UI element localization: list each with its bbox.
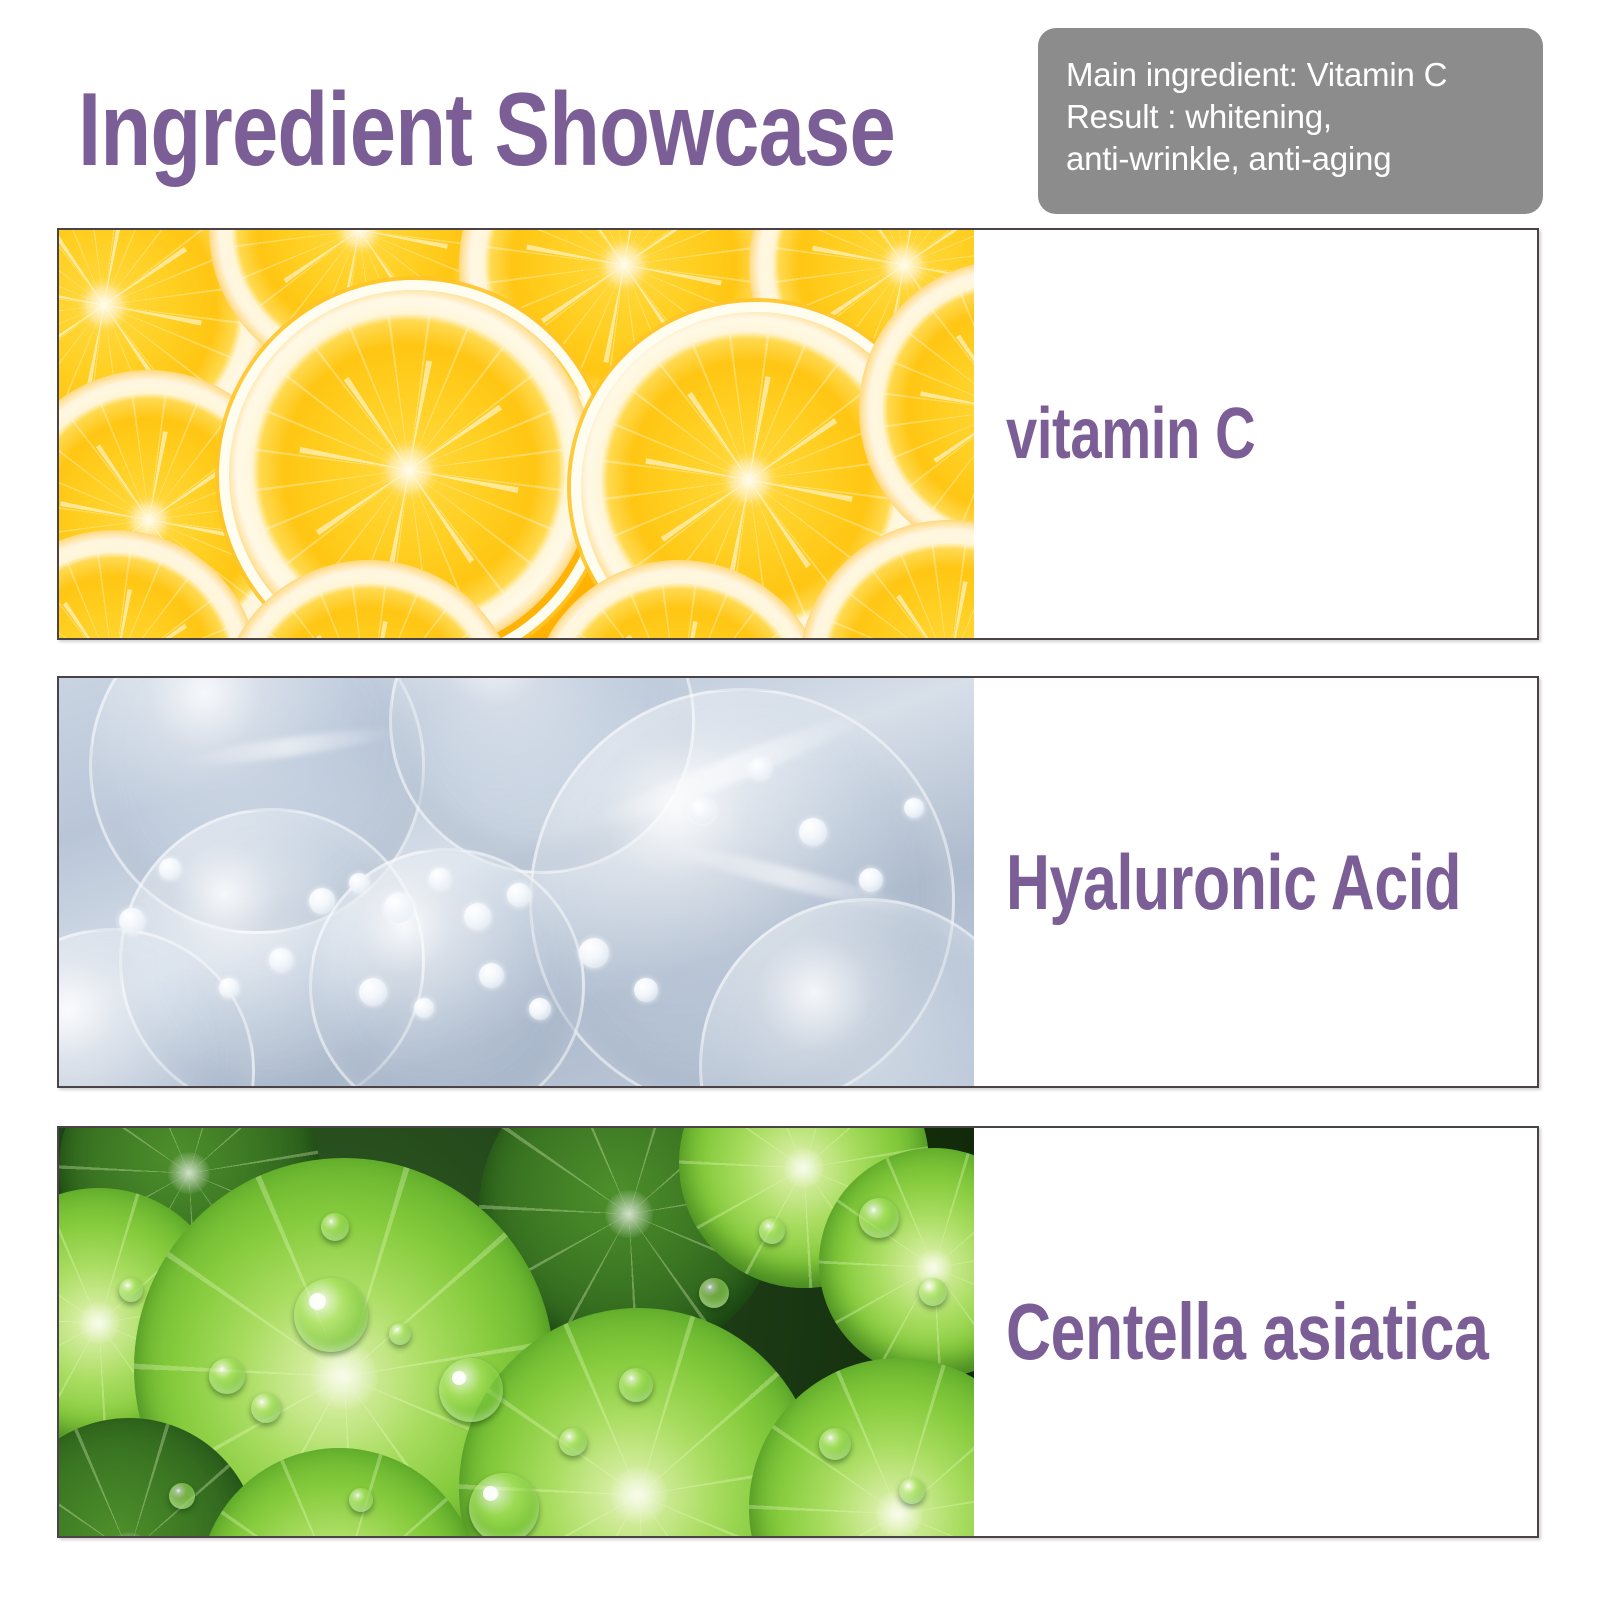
card-body-hyaluronic-acid: Hyaluronic Acid: [974, 678, 1539, 1086]
gel-scene: [59, 678, 974, 1086]
gel-bubble: [904, 798, 924, 818]
gel-bubble: [269, 948, 293, 972]
water-droplet: [819, 1428, 851, 1460]
gel-bubble: [859, 868, 883, 892]
gel-bubble: [479, 963, 504, 988]
water-droplet: [439, 1358, 503, 1422]
page-title: Ingredient Showcase: [78, 78, 895, 182]
water-droplet: [759, 1218, 785, 1244]
gel-bubble: [159, 858, 181, 880]
water-droplet: [294, 1278, 368, 1352]
card-body-centella-asiatica: Centella asiatica: [974, 1128, 1539, 1536]
info-line-result: Result : whitening,: [1066, 96, 1543, 138]
water-droplet: [389, 1323, 411, 1345]
ingredient-label-vitamin-c: vitamin C: [1006, 398, 1255, 470]
water-gel-bubbles-photo: [59, 678, 974, 1086]
ingredient-label-hyaluronic-acid: Hyaluronic Acid: [1006, 843, 1461, 921]
orange-scene: [59, 230, 974, 638]
info-line-result-continued: anti-wrinkle, anti-aging: [1066, 138, 1543, 180]
gel-bubble: [464, 903, 491, 930]
ingredient-label-centella-asiatica: Centella asiatica: [1006, 1292, 1488, 1372]
gel-bubble: [579, 938, 609, 968]
gel-bubble: [749, 758, 771, 780]
card-body-vitamin-c: vitamin C: [974, 230, 1537, 638]
leaf-scene: [59, 1128, 974, 1536]
water-droplet: [559, 1428, 587, 1456]
gel-bubble: [634, 978, 658, 1002]
header: Ingredient Showcase Main ingredient: Vit…: [0, 0, 1600, 228]
gel-bubble: [309, 888, 335, 914]
gel-bubble: [414, 998, 434, 1018]
water-droplet: [169, 1483, 195, 1509]
ingredient-card-hyaluronic-acid[interactable]: Hyaluronic Acid: [57, 676, 1539, 1088]
gel-bubble: [529, 998, 551, 1020]
water-droplet: [619, 1368, 653, 1402]
info-line-main-ingredient: Main ingredient: Vitamin C: [1066, 54, 1543, 96]
gel-bubble: [429, 868, 451, 890]
water-droplet: [469, 1473, 539, 1536]
gel-bubble: [384, 893, 414, 923]
gel-bubble: [359, 978, 387, 1006]
gel-bubble: [119, 908, 145, 934]
gel-bubble: [799, 818, 827, 846]
water-droplet: [899, 1478, 925, 1504]
water-droplet: [119, 1278, 143, 1302]
centella-leaves-photo: [59, 1128, 974, 1536]
droplet-highlight: [452, 1371, 466, 1385]
water-droplet: [321, 1213, 349, 1241]
droplet-highlight: [309, 1293, 326, 1310]
water-droplet: [209, 1358, 245, 1394]
ingredient-card-centella-asiatica[interactable]: Centella asiatica: [57, 1126, 1539, 1538]
water-droplet: [919, 1278, 947, 1306]
water-droplet: [251, 1393, 281, 1423]
gel-bubble: [689, 798, 715, 824]
droplet-highlight: [483, 1486, 498, 1501]
orange-slices-photo: [59, 230, 974, 638]
gel-bubble: [349, 873, 369, 893]
info-callout-box: Main ingredient: Vitamin C Result : whit…: [1038, 28, 1543, 214]
water-droplet: [349, 1488, 373, 1512]
gel-bubble: [507, 883, 531, 907]
gel-bubble: [219, 978, 239, 998]
water-droplet: [859, 1198, 899, 1238]
ingredient-card-vitamin-c[interactable]: vitamin C: [57, 228, 1539, 640]
water-droplet: [699, 1278, 729, 1308]
